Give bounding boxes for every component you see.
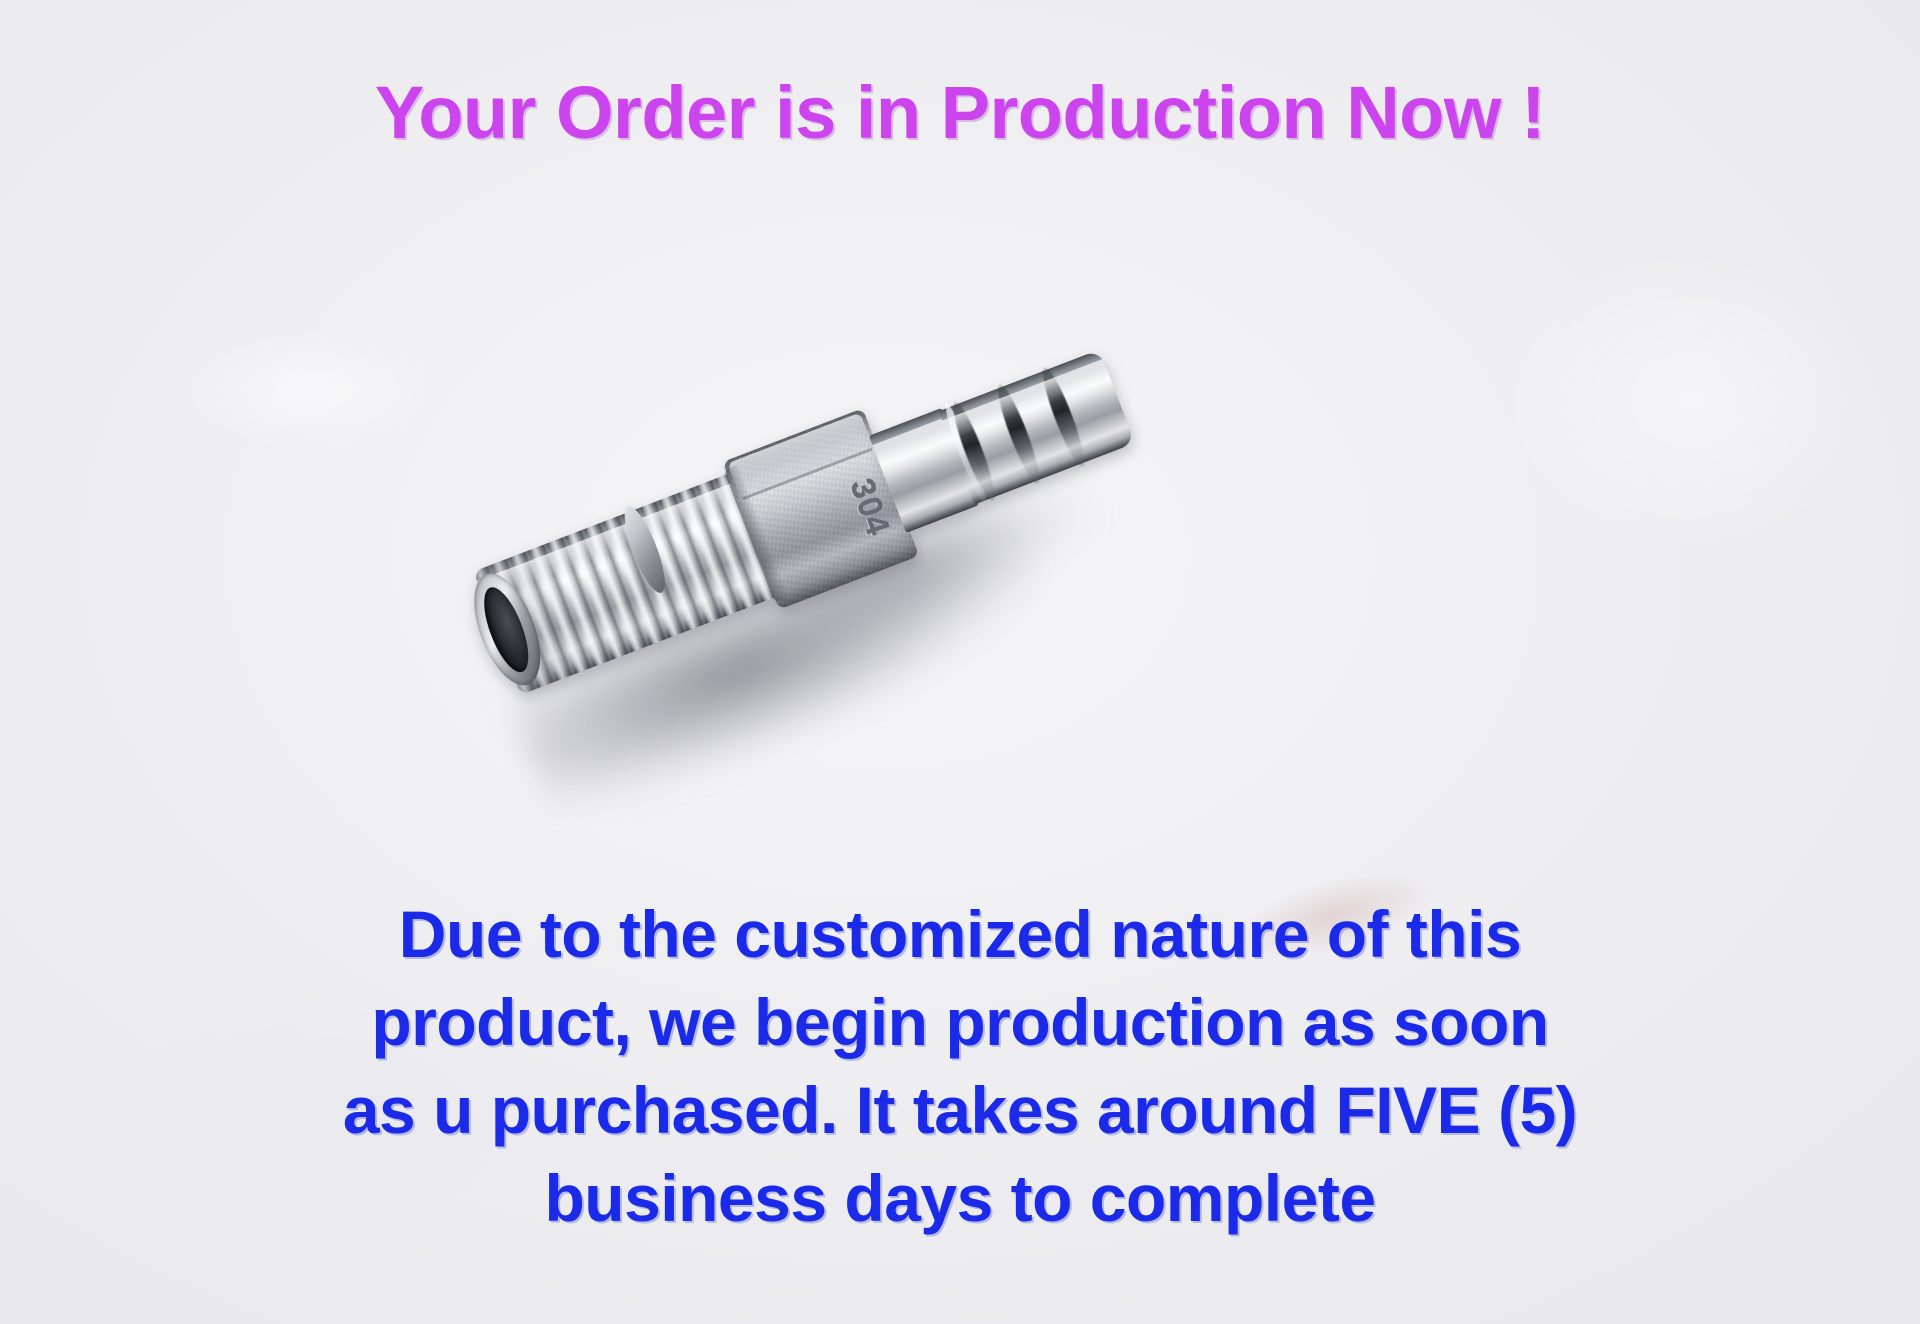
backdrop-highlight-right: [1500, 250, 1880, 550]
production-notice-text: Due to the customized nature of this pro…: [180, 890, 1740, 1242]
notice-line-4: business days to complete: [180, 1154, 1740, 1242]
notice-banner: Your Order is in Production Now ! 304: [0, 0, 1920, 1324]
notice-line-2: product, we begin production as soon: [180, 978, 1740, 1066]
shank-gloss: [872, 417, 953, 465]
barb-end: [939, 350, 1135, 505]
barb-ring-3: [1037, 364, 1091, 469]
backdrop-highlight-left: [180, 330, 440, 450]
product-photo: 304: [420, 280, 1180, 780]
notice-line-1: Due to the customized nature of this: [180, 890, 1740, 978]
barb-ring-2: [992, 382, 1046, 487]
page-title: Your Order is in Production Now !: [0, 70, 1920, 155]
notice-line-3: as u purchased. It takes around FIVE (5): [180, 1066, 1740, 1154]
